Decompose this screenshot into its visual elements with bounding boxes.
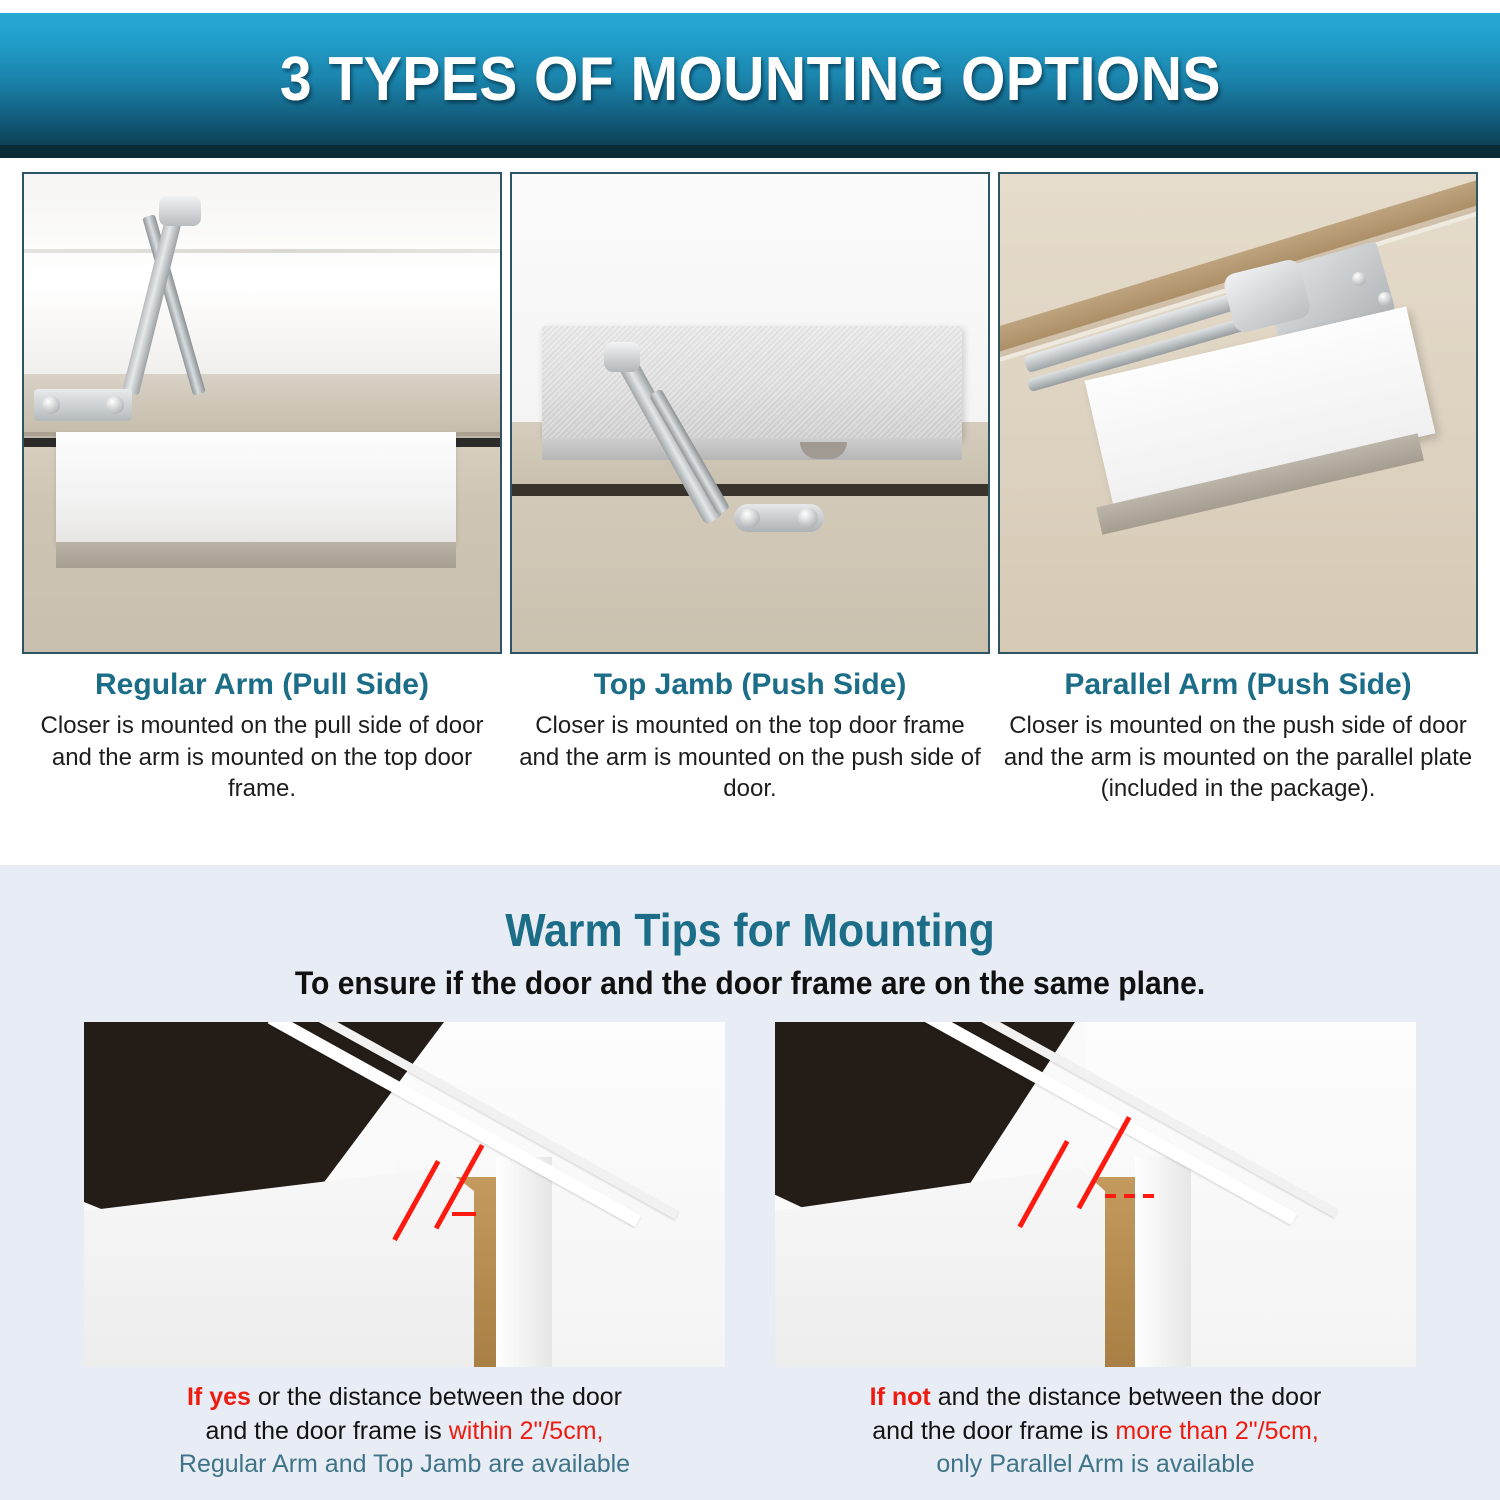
- plate-screw-icon: [1352, 272, 1366, 286]
- card-description: Closer is mounted on the push side of do…: [998, 710, 1478, 805]
- red-gap-indicator: [1105, 1194, 1157, 1198]
- caption-line1-rest: and the distance between the door: [931, 1383, 1322, 1411]
- warm-tip-item: If yes or the distance between the door …: [84, 1022, 725, 1482]
- red-gap-indicator: [452, 1212, 476, 1216]
- caption-line-3: only Parallel Arm is available: [775, 1448, 1416, 1482]
- warm-tips-section: Warm Tips for Mounting To ensure if the …: [0, 865, 1500, 1500]
- top-jamb-push-side-photo: [510, 172, 990, 654]
- door-closer-body-underside: [56, 542, 456, 568]
- caption-line-1: If yes or the distance between the door: [84, 1381, 725, 1415]
- plate-screw-icon: [1378, 292, 1392, 306]
- caption-distance-highlight: within 2"/5cm,: [449, 1417, 604, 1445]
- parallel-arm-push-side-photo: [998, 172, 1478, 654]
- card-description: Closer is mounted on the top door frame …: [510, 710, 990, 805]
- mounting-option-card: Parallel Arm (Push Side) Closer is mount…: [998, 172, 1478, 805]
- mounting-options-row: Regular Arm (Pull Side) Closer is mounte…: [0, 158, 1500, 805]
- banner-title: 3 TYPES OF MOUNTING OPTIONS: [279, 44, 1220, 115]
- banner-underline: [0, 145, 1500, 158]
- banner: 3 TYPES OF MOUNTING OPTIONS: [0, 13, 1500, 145]
- arm-pivot: [159, 196, 201, 226]
- ceiling-seam: [24, 249, 500, 253]
- warm-tips-title: Warm Tips for Mounting: [53, 865, 1448, 957]
- caption-line1-rest: or the distance between the door: [251, 1383, 622, 1411]
- caption-lead: If yes: [187, 1383, 251, 1411]
- warm-tips-subtitle: To ensure if the door and the door frame…: [45, 965, 1455, 1002]
- door-closer-body: [56, 432, 456, 542]
- caption-line-2: and the door frame is within 2"/5cm,: [84, 1415, 725, 1449]
- warm-tip-caption: If yes or the distance between the door …: [84, 1381, 725, 1482]
- card-title: Regular Arm (Pull Side): [22, 668, 502, 702]
- bracket-screw-icon: [740, 508, 760, 528]
- door-frame-same-plane-photo: [84, 1022, 725, 1367]
- arm-pivot: [604, 342, 640, 372]
- warm-tip-caption: If not and the distance between the door…: [775, 1381, 1416, 1482]
- warm-tips-row: If yes or the distance between the door …: [0, 1022, 1500, 1482]
- caption-line2-prefix: and the door frame is: [872, 1417, 1115, 1445]
- warm-tip-item: If not and the distance between the door…: [775, 1022, 1416, 1482]
- regular-arm-pull-side-photo: [22, 172, 502, 654]
- door-jamb: [496, 1157, 552, 1367]
- card-title: Top Jamb (Push Side): [510, 668, 990, 702]
- caption-line-2: and the door frame is more than 2"/5cm,: [775, 1415, 1416, 1449]
- caption-distance-highlight: more than 2"/5cm,: [1115, 1417, 1318, 1445]
- ceiling-surface: [24, 174, 500, 374]
- door-jamb: [1135, 1157, 1191, 1367]
- door-frame-offset-plane-photo: [775, 1022, 1416, 1367]
- caption-lead: If not: [870, 1383, 931, 1411]
- mounting-option-card: Regular Arm (Pull Side) Closer is mounte…: [22, 172, 502, 805]
- mounting-option-card: Top Jamb (Push Side) Closer is mounted o…: [510, 172, 990, 805]
- bracket-screw-icon: [106, 396, 124, 414]
- door-closer-body-underside: [542, 438, 962, 460]
- card-title: Parallel Arm (Push Side): [998, 668, 1478, 702]
- caption-line-1: If not and the distance between the door: [775, 1381, 1416, 1415]
- bracket-screw-icon: [42, 396, 60, 414]
- caption-line-3: Regular Arm and Top Jamb are available: [84, 1448, 725, 1482]
- top-white-margin: [0, 0, 1500, 13]
- caption-line2-prefix: and the door frame is: [206, 1417, 449, 1445]
- card-description: Closer is mounted on the pull side of do…: [22, 710, 502, 805]
- bracket-screw-icon: [798, 508, 818, 528]
- door-closer-body-texture: [542, 326, 962, 438]
- door-gap: [512, 484, 988, 496]
